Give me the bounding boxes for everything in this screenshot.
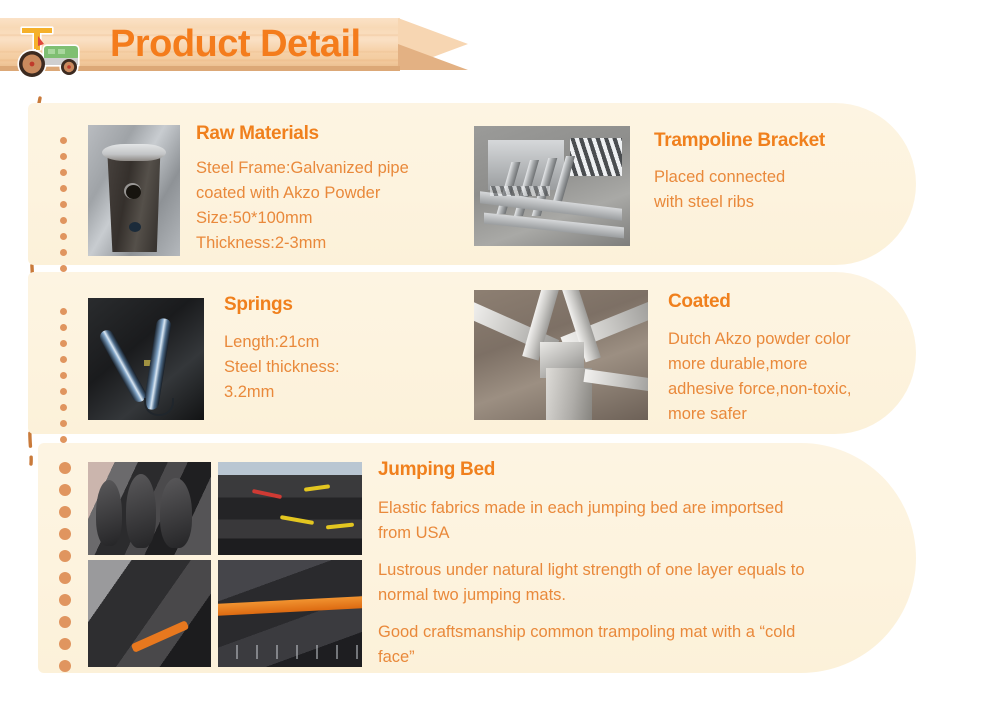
- jumping-bed-orange-band-photo: [218, 560, 362, 667]
- heading-springs: Springs: [224, 294, 293, 316]
- heading-raw-materials: Raw Materials: [196, 123, 319, 145]
- heading-jumping-bed: Jumping Bed: [378, 459, 495, 481]
- dot-column-3: [59, 462, 71, 682]
- dot: [59, 660, 71, 672]
- text-line: Dutch Akzo powder color: [668, 327, 898, 352]
- jumping-bed-fabric-layer-photo: [88, 560, 211, 667]
- dot: [59, 484, 71, 496]
- text-line: adhesive force,non-toxic,: [668, 377, 898, 402]
- dot: [60, 265, 67, 272]
- dot: [60, 201, 67, 208]
- text-paragraph: Good craftsmanship common trampoling mat…: [378, 620, 808, 670]
- dot: [59, 616, 71, 628]
- text-line: Size:50*100mm: [196, 206, 456, 231]
- dot: [60, 404, 67, 411]
- text-line: coated with Akzo Powder: [196, 181, 456, 206]
- dot: [60, 372, 67, 379]
- text-line: Thickness:2-3mm: [196, 231, 456, 256]
- dot: [60, 233, 67, 240]
- dot: [60, 420, 67, 427]
- dot: [59, 572, 71, 584]
- dot: [60, 436, 67, 443]
- trampoline-bracket-photo: [474, 126, 630, 246]
- jumping-bed-stacked-mats-photo: [218, 462, 362, 555]
- dot: [60, 388, 67, 395]
- text-line: Steel thickness:: [224, 355, 424, 380]
- text-line: with steel ribs: [654, 190, 874, 215]
- jumping-bed-fabric-rolls-photo: [88, 462, 211, 555]
- dot: [60, 356, 67, 363]
- dot: [60, 185, 67, 192]
- dot: [60, 249, 67, 256]
- page-header: Product Detail: [0, 8, 470, 74]
- coated-frame-photo: [474, 290, 648, 420]
- text-raw-materials: Steel Frame:Galvanized pipe coated with …: [196, 156, 456, 256]
- text-paragraph: Lustrous under natural light strength of…: [378, 558, 808, 608]
- text-line: more durable,more: [668, 352, 898, 377]
- springs-photo: [88, 298, 204, 420]
- tractor-icon: [8, 20, 94, 78]
- dot: [60, 153, 67, 160]
- text-line: Length:21cm: [224, 330, 424, 355]
- text-coated: Dutch Akzo powder color more durable,mor…: [668, 327, 898, 427]
- text-trampoline-bracket: Placed connected with steel ribs: [654, 165, 874, 215]
- page-title: Product Detail: [110, 22, 361, 66]
- text-springs: Length:21cm Steel thickness: 3.2mm: [224, 330, 424, 405]
- dot: [60, 308, 67, 315]
- dot: [60, 340, 67, 347]
- heading-trampoline-bracket: Trampoline Bracket: [654, 130, 825, 152]
- galvanized-steel-tube-photo: [88, 125, 180, 256]
- text-line: Steel Frame:Galvanized pipe: [196, 156, 456, 181]
- dot: [60, 324, 67, 331]
- dot: [59, 594, 71, 606]
- dot: [59, 506, 71, 518]
- text-line: 3.2mm: [224, 380, 424, 405]
- text-paragraph: Elastic fabrics made in each jumping bed…: [378, 496, 808, 546]
- sign-arrow-tip-shadow: [398, 44, 468, 70]
- heading-coated: Coated: [668, 291, 731, 313]
- dot: [60, 169, 67, 176]
- dot: [59, 550, 71, 562]
- dot: [59, 638, 71, 650]
- dot: [60, 217, 67, 224]
- dot: [59, 462, 71, 474]
- text-line: more safer: [668, 402, 898, 427]
- dot: [60, 137, 67, 144]
- text-jumping-bed: Elastic fabrics made in each jumping bed…: [378, 496, 808, 670]
- dot: [59, 528, 71, 540]
- text-line: Placed connected: [654, 165, 874, 190]
